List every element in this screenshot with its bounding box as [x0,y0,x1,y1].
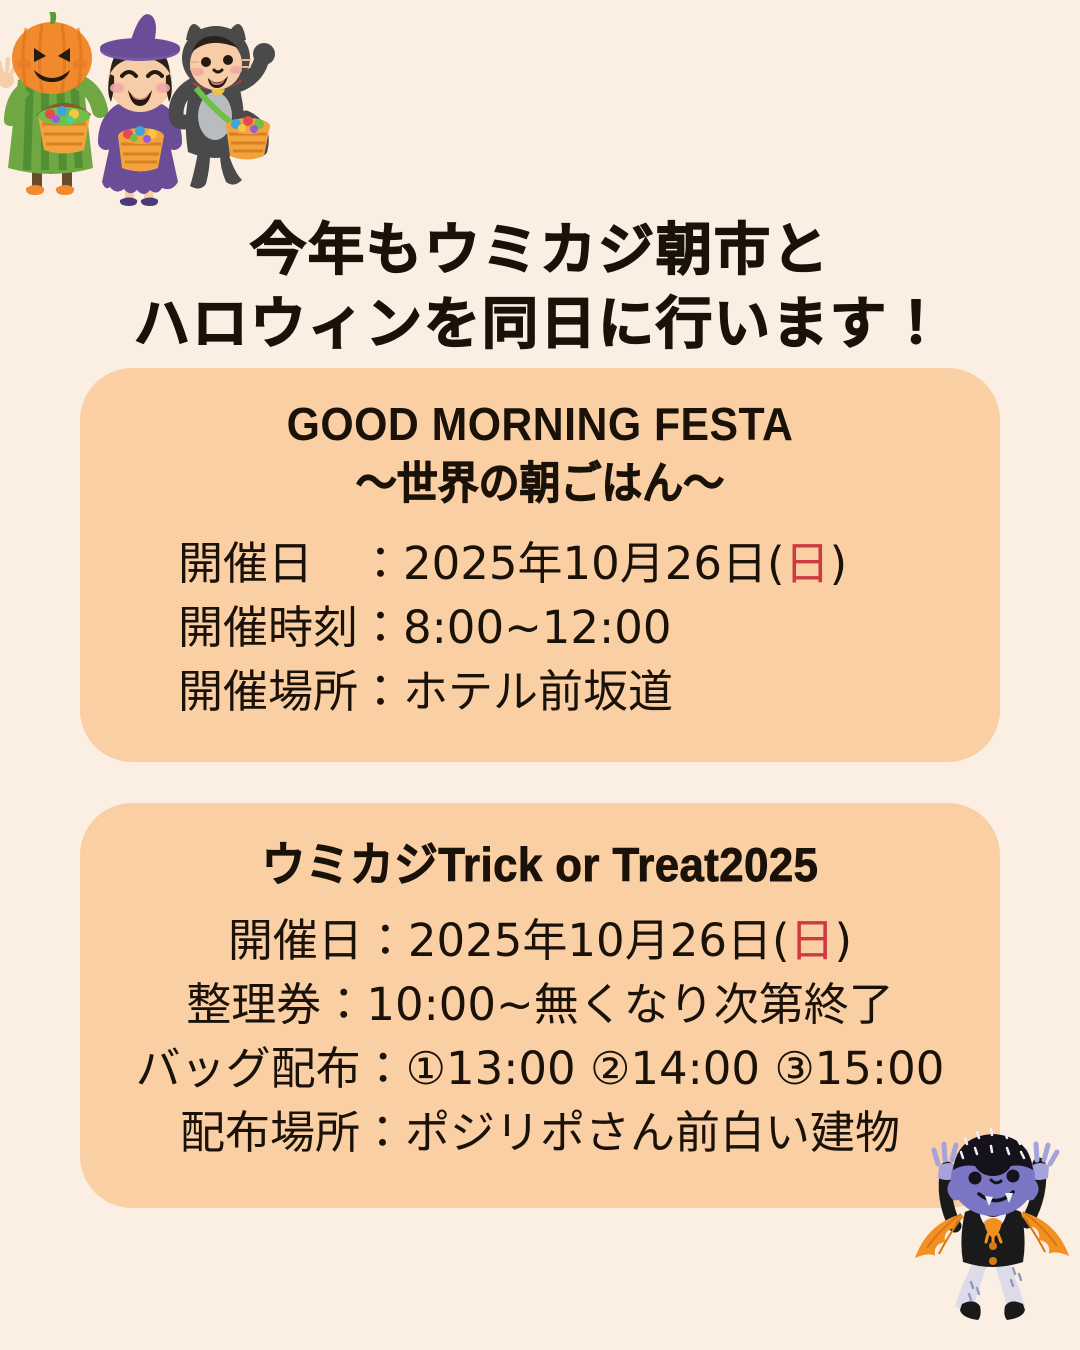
detail-value: ポジリポさん前白い建物 [405,1106,900,1159]
detail-label: 開催時刻： [178,601,403,654]
detail-value: 8:00~12:00 [403,601,671,654]
detail-label: 整理券： [186,978,366,1031]
detail-value: 2025年10月26日( [403,537,785,590]
detail-row-place: 開催場所：ホテル前坂道 [178,660,1000,724]
poster-canvas: 今年もウミカジ朝市と ハロウィンを同日に行います！ GOOD MORNING F… [0,0,1080,1350]
detail-label: 配布場所： [180,1106,405,1159]
detail-value-weekday: 日 [785,537,830,590]
halloween-kids-illustration [0,12,290,222]
detail-label: 開催日： [228,914,408,967]
detail-value: ①13:00 ②14:00 ③15:00 [406,1042,945,1095]
detail-label: 開催日 ： [178,537,403,590]
detail-row-bag-distribution: バッグ配布：①13:00 ②14:00 ③15:00 [80,1037,1000,1101]
detail-row-distribution-place: 配布場所：ポジリポさん前白い建物 [80,1101,1000,1165]
card-title-sub: 〜世界の朝ごはん〜 [112,454,968,514]
detail-label: 開催場所： [178,665,403,718]
card-title-main: ウミカジTrick or Treat2025 [112,835,968,895]
page-title-line-1: 今年もウミカジ朝市と [0,214,1080,288]
detail-value: 10:00~無くなり次第終了 [366,978,893,1031]
detail-row-date: 開催日：2025年10月26日(日) [80,909,1000,973]
witch-kid-icon [100,14,180,206]
event-card-trick-or-treat: ウミカジTrick or Treat2025 開催日：2025年10月26日(日… [80,803,1000,1208]
detail-row-ticket: 整理券：10:00~無くなり次第終了 [80,973,1000,1037]
detail-row-time: 開催時刻：8:00~12:00 [178,596,1000,660]
page-title: 今年もウミカジ朝市と ハロウィンを同日に行います！ [0,214,1080,362]
page-title-line-2: ハロウィンを同日に行います！ [0,288,1080,362]
detail-value-weekday: 日 [790,914,835,967]
card-heading-block: ウミカジTrick or Treat2025 [80,803,1000,895]
detail-value: 2025年10月26日( [408,914,790,967]
card-heading-block: GOOD MORNING FESTA 〜世界の朝ごはん〜 [80,368,1000,514]
card-details: 開催日：2025年10月26日(日) 整理券：10:00~無くなり次第終了 バッ… [80,895,1000,1165]
detail-value-tail: ) [835,914,853,967]
detail-row-date: 開催日 ：2025年10月26日(日) [178,532,1000,596]
event-card-good-morning-festa: GOOD MORNING FESTA 〜世界の朝ごはん〜 開催日 ：2025年1… [80,368,1000,762]
card-title-main: GOOD MORNING FESTA [112,394,968,454]
pumpkin-kid-icon [0,12,100,195]
vampire-hand-right [1025,1144,1057,1180]
cat-kid-icon [176,24,275,189]
detail-value: ホテル前坂道 [403,665,673,718]
detail-value-tail: ) [830,537,848,590]
detail-label: バッグ配布： [136,1042,406,1095]
card-details: 開催日 ：2025年10月26日(日) 開催時刻：8:00~12:00 開催場所… [80,514,1000,724]
